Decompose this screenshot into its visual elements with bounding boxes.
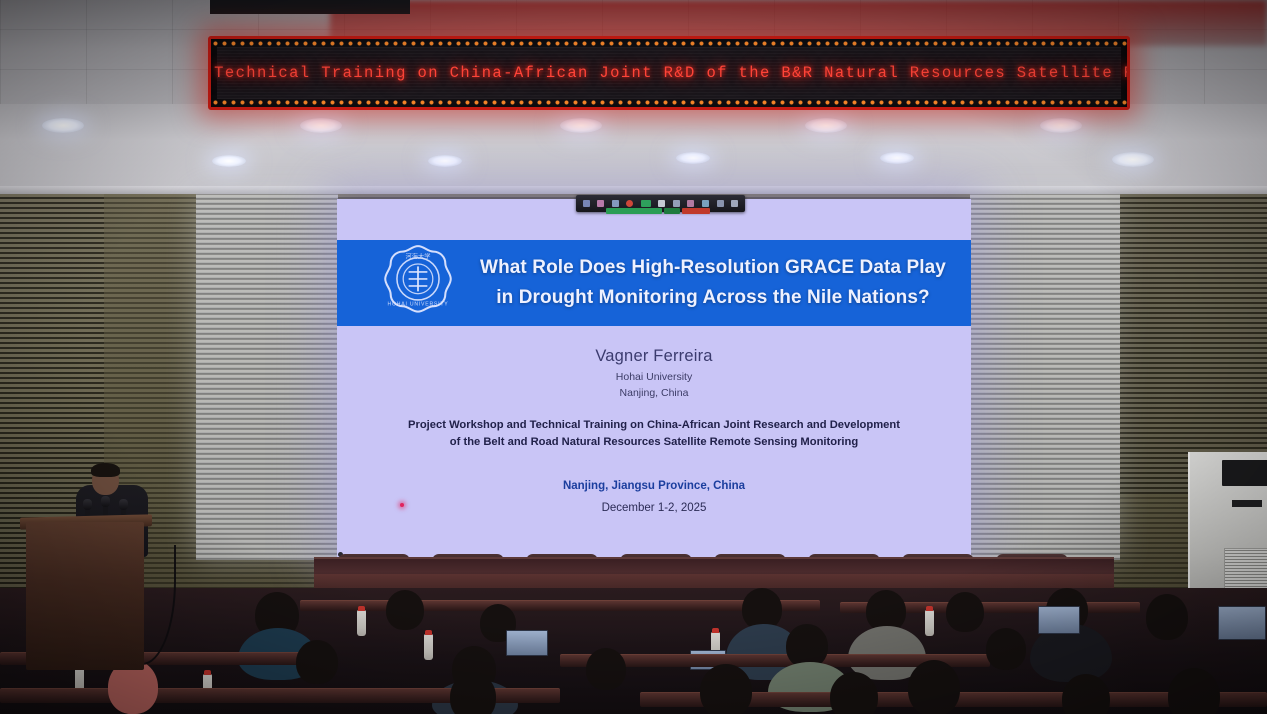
water-bottle: [357, 610, 366, 636]
wall-dim-panel-right: [1120, 194, 1267, 494]
slide-title-text: What Role Does High-Resolution GRACE Dat…: [469, 240, 957, 326]
audience-person: [586, 648, 626, 690]
laptop-screen[interactable]: [1038, 606, 1080, 634]
author-city: Nanjing, China: [337, 387, 971, 399]
water-bottle: [925, 610, 934, 636]
share-screen-icon[interactable]: [641, 200, 651, 207]
record-icon[interactable]: [626, 200, 633, 207]
audience-person: [986, 628, 1026, 670]
seal-label: HOHAI UNIVERSITY: [388, 301, 449, 307]
slide-title-line-1: What Role Does High-Resolution GRACE Dat…: [480, 257, 946, 279]
audience-person: [946, 592, 984, 632]
ceiling-downlight: [560, 118, 602, 133]
audience-person: [1168, 668, 1220, 714]
sharing-status-pill: [606, 208, 662, 214]
ceiling-downlight: [428, 155, 462, 167]
led-banner-text: Workshop and Technical Training on China…: [208, 64, 1130, 82]
settings-icon[interactable]: [702, 200, 709, 207]
ceiling-downlight: [1040, 118, 1082, 133]
ac-display-slot: [1232, 500, 1262, 507]
slide-workshop-block: Project Workshop and Technical Training …: [377, 417, 931, 451]
participants-icon[interactable]: [612, 200, 619, 207]
presenter-hair: [91, 463, 120, 477]
ceiling-dark-strip: [210, 0, 410, 14]
ceiling-downlight: [805, 118, 847, 133]
ceiling-downlight: [880, 152, 914, 164]
venue-place: Nanjing, Jiangsu Province, China: [337, 480, 971, 492]
audience-person: [296, 640, 338, 684]
microphone-head: [101, 496, 110, 507]
stop-share-pill: [682, 208, 710, 214]
audience-person: [386, 590, 424, 630]
ac-vent-top: [1222, 460, 1267, 486]
timer-pill: [664, 208, 680, 214]
ceiling-downlight: [300, 118, 342, 133]
workshop-line-2: of the Belt and Road Natural Resources S…: [377, 434, 931, 451]
audience-person: [1062, 674, 1110, 714]
laser-pointer-dot: [400, 503, 404, 507]
audience-person: [700, 664, 752, 714]
more-icon[interactable]: [717, 200, 724, 207]
hohai-university-seal-icon: 河海大学 HOHAI UNIVERSITY: [379, 243, 457, 321]
ceiling-downlight: [42, 118, 84, 133]
chat-icon[interactable]: [673, 200, 680, 207]
ceiling-downlight: [1112, 152, 1154, 167]
end-icon[interactable]: [731, 200, 738, 207]
slide-venue-block: Nanjing, Jiangsu Province, China Decembe…: [337, 480, 971, 514]
author-affiliation: Hohai University: [337, 371, 971, 383]
led-scrolling-banner: Workshop and Technical Training on China…: [208, 36, 1130, 110]
laptop-screen[interactable]: [1218, 606, 1266, 640]
audience-person: [908, 660, 960, 714]
wall-lit-panel-left: [196, 194, 338, 560]
microphone-head: [119, 499, 128, 510]
audience-person: [830, 672, 878, 714]
venue-date: December 1-2, 2025: [337, 502, 971, 514]
led-border-dots-top: [211, 40, 1127, 47]
audience-person: [450, 672, 496, 714]
projection-screen: 河海大学 HOHAI UNIVERSITY What Role Does Hig…: [337, 199, 971, 559]
audience-area: [0, 588, 1267, 714]
author-name: Vagner Ferreira: [337, 347, 971, 366]
ceiling-downlight: [212, 155, 246, 167]
laptop-screen[interactable]: [506, 630, 548, 656]
svg-text:河海大学: 河海大学: [406, 253, 431, 261]
audience-person: [1146, 594, 1188, 640]
whiteboard-icon[interactable]: [658, 200, 665, 207]
reactions-icon[interactable]: [687, 200, 694, 207]
toolbar-status-pills: [606, 208, 710, 214]
led-border-dots-bottom: [211, 99, 1127, 106]
video-icon[interactable]: [597, 200, 604, 207]
wall-lit-panel-right: [970, 194, 1120, 560]
led-display-area: Workshop and Technical Training on China…: [217, 47, 1121, 99]
conference-hall-scene: Workshop and Technical Training on China…: [0, 0, 1267, 714]
slide-title-band: 河海大学 HOHAI UNIVERSITY What Role Does Hig…: [337, 240, 971, 326]
ceiling-downlight: [676, 152, 710, 164]
workshop-line-1: Project Workshop and Technical Training …: [377, 417, 931, 434]
podium: [26, 522, 144, 670]
slide-author-block: Vagner Ferreira Hohai University Nanjing…: [337, 347, 971, 399]
slide-title-line-2: in Drought Monitoring Across the Nile Na…: [496, 287, 930, 309]
audio-icon[interactable]: [583, 200, 590, 207]
water-bottle: [424, 634, 433, 660]
ceiling-soffit: [0, 104, 1267, 194]
microphone-head: [83, 499, 92, 510]
